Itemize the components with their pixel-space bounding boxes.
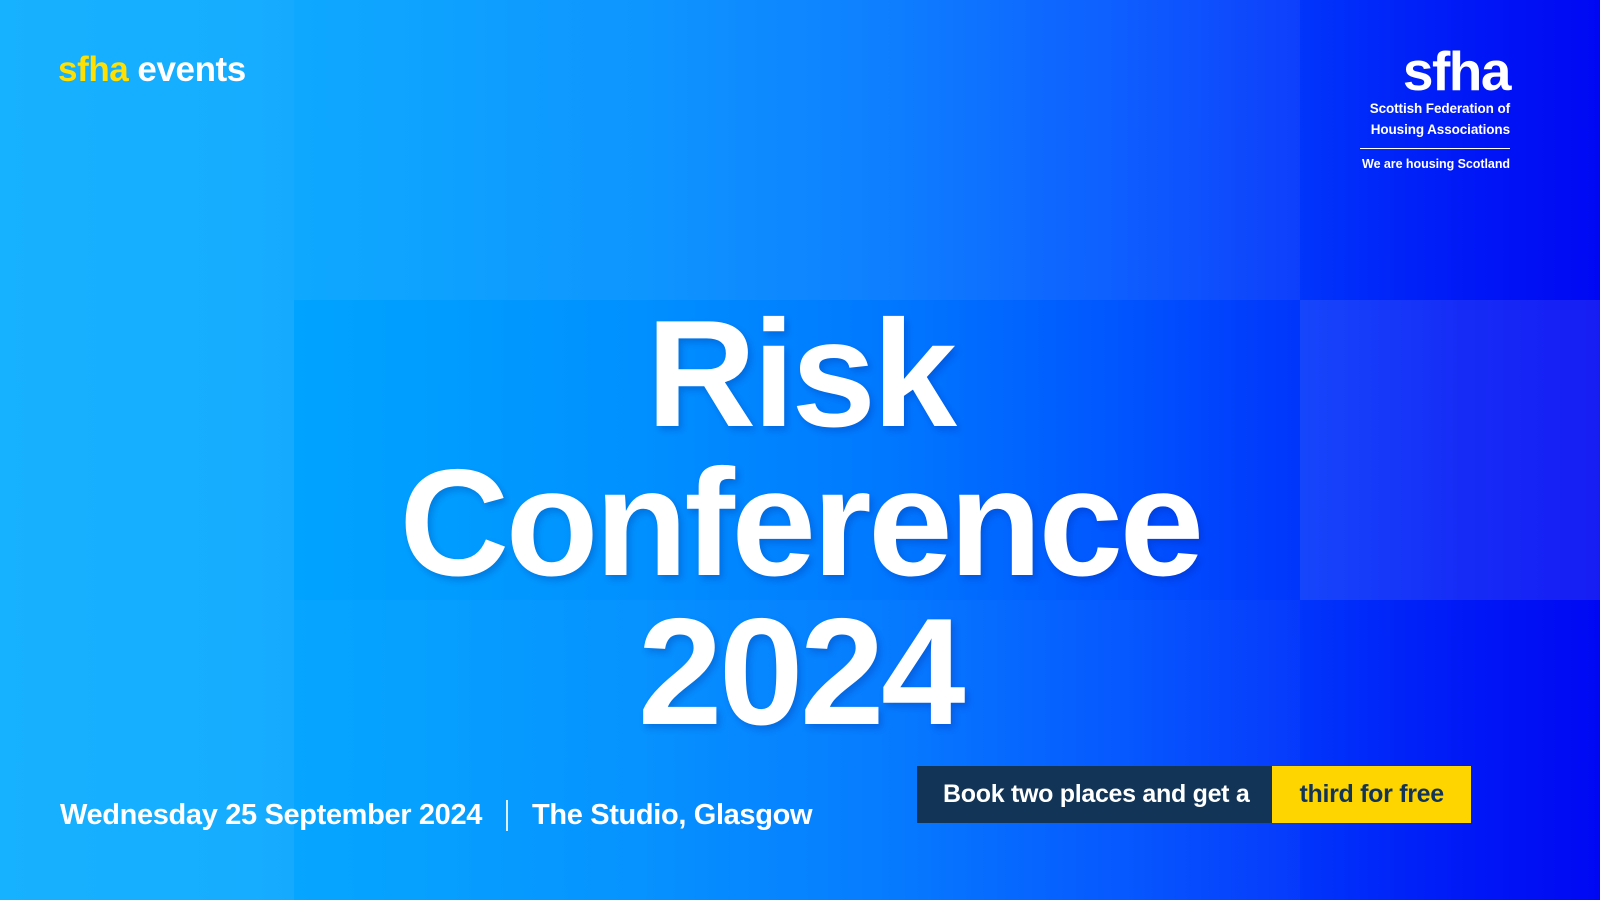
sfha-logo-fullname-line2: Housing Associations [1360, 122, 1510, 137]
event-promo-banner: sfhaevents sfha Scottish Federation of H… [0, 0, 1600, 900]
event-details-separator [506, 800, 508, 831]
event-date: Wednesday 25 September 2024 [60, 799, 482, 832]
promo-badge-highlight-text: third for free [1272, 766, 1470, 823]
events-logo-secondary: events [137, 50, 246, 89]
title-line-3: 2024 [0, 598, 1600, 747]
sfha-logo-tagline: We are housing Scotland [1360, 158, 1510, 171]
decorative-block-top-middle [294, 0, 1300, 300]
promo-badge-main-text: Book two places and get a [917, 766, 1272, 823]
sfha-logo-divider [1360, 148, 1510, 150]
title-line-1: Risk [0, 300, 1600, 449]
sfha-logo-wordmark: sfha [1360, 48, 1510, 95]
sfha-logo-fullname-line1: Scottish Federation of [1360, 101, 1510, 116]
events-logo-primary: sfha [58, 50, 128, 89]
event-details: Wednesday 25 September 2024 The Studio, … [60, 799, 812, 832]
decorative-block-top-left [0, 0, 294, 300]
page-title: Risk Conference 2024 [0, 300, 1600, 747]
event-venue: The Studio, Glasgow [532, 799, 812, 832]
promo-badge[interactable]: Book two places and get a third for free [917, 766, 1471, 823]
sfha-logo: sfha Scottish Federation of Housing Asso… [1360, 48, 1510, 171]
sfha-events-logo: sfhaevents [58, 52, 246, 87]
title-line-2: Conference [0, 449, 1600, 598]
